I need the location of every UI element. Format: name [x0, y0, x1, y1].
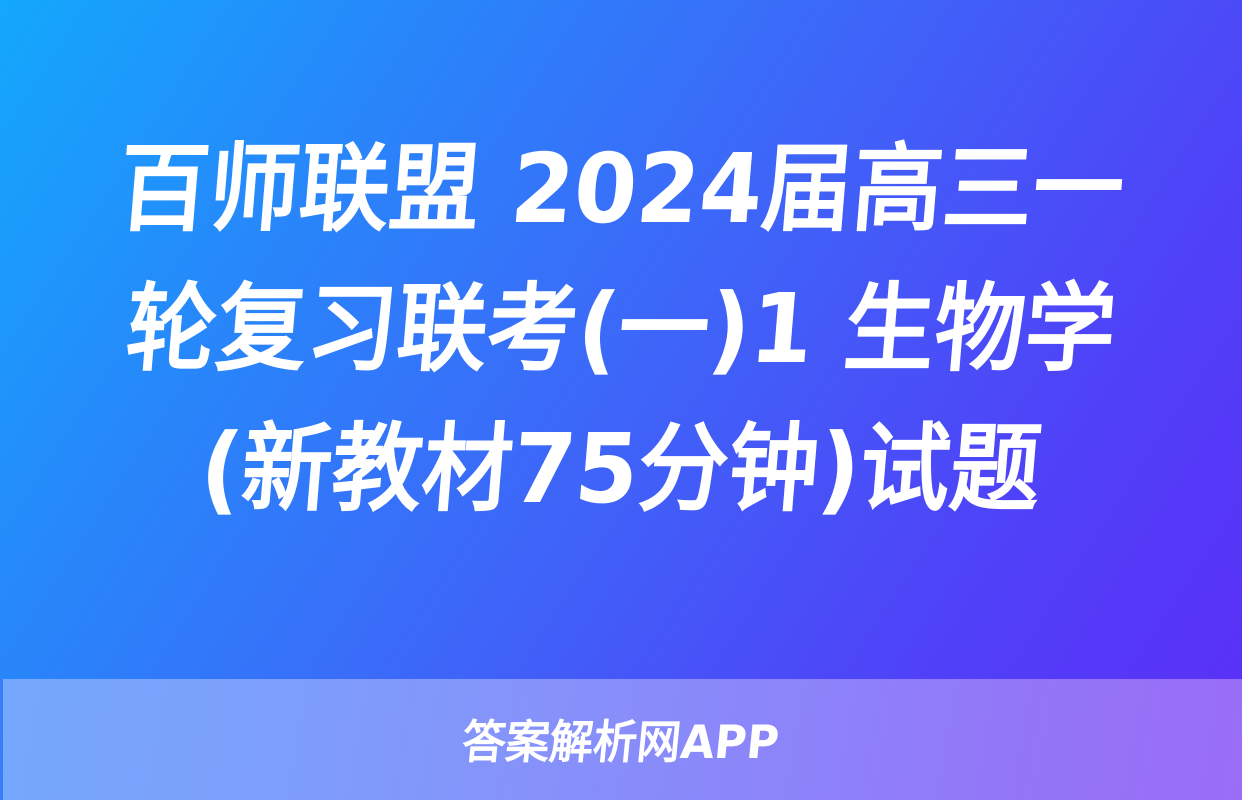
exam-title-banner: 百师联盟 2024届高三一 轮复习联考(一)1 生物学 (新教材75分钟)试题 …: [0, 0, 1242, 800]
footer-brand-band: 答案解析网APP: [0, 679, 1242, 800]
title-line-1: 百师联盟 2024届高三一: [113, 119, 1129, 259]
title-line-2: 轮复习联考(一)1 生物学: [121, 259, 1121, 399]
title-block: 百师联盟 2024届高三一 轮复习联考(一)1 生物学 (新教材75分钟)试题: [0, 0, 1242, 679]
brand-label: 答案解析网APP: [460, 717, 781, 767]
title-line-3: (新教材75分钟)试题: [195, 399, 1046, 539]
